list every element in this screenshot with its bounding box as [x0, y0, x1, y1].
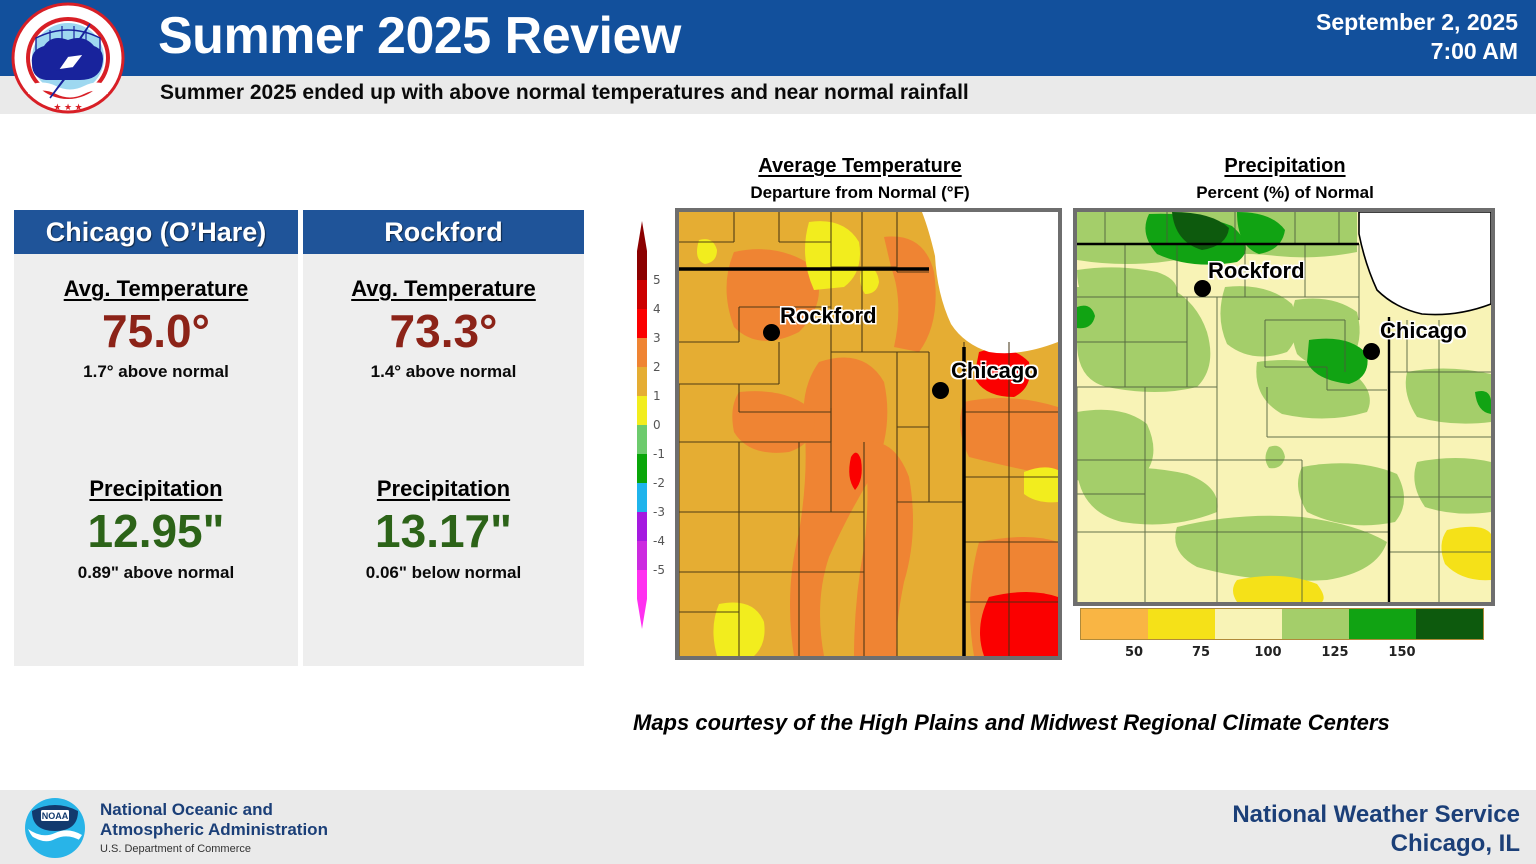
noaa-line-2: Atmospheric Administration: [100, 820, 328, 840]
city-dot-rockford: [763, 324, 780, 341]
pcb-band-1: [1148, 609, 1215, 639]
pcb-band-0: [1081, 609, 1148, 639]
stat-card-chicago: Chicago (O’Hare) Avg. Temperature 75.0° …: [14, 210, 298, 666]
cb-tick-n1: -1: [653, 447, 665, 461]
noaa-name: National Oceanic and Atmospheric Adminis…: [100, 800, 328, 840]
noaa-seal-icon: NOAA: [24, 797, 86, 859]
precip-map-subtitle: Percent (%) of Normal: [1130, 183, 1440, 203]
precip-note: 0.06" below normal: [303, 563, 584, 583]
nws-office-line-1: National Weather Service: [1232, 800, 1520, 829]
city-label-rockford: Rockford: [1208, 258, 1305, 284]
precip-map-title: Precipitation: [1130, 155, 1440, 178]
city-label-rockford: Rockford: [780, 303, 877, 329]
city-dot-chicago: [932, 382, 949, 399]
header-datetime: September 2, 2025 7:00 AM: [1316, 8, 1518, 66]
noaa-line-1: National Oceanic and: [100, 800, 328, 820]
pcb-tick-75: 75: [1181, 645, 1221, 660]
temp-note: 1.7° above normal: [14, 362, 298, 382]
pcb-band-3: [1282, 609, 1349, 639]
temp-map-title: Average Temperature: [700, 155, 1020, 178]
card-header-chicago: Chicago (O’Hare): [14, 210, 298, 254]
city-label-chicago: Chicago: [951, 358, 1038, 384]
precip-label: Precipitation: [303, 476, 584, 502]
stat-card-rockford: Rockford Avg. Temperature 73.3° 1.4° abo…: [303, 210, 584, 666]
noaa-department: U.S. Department of Commerce: [100, 843, 251, 855]
cb-tick-5: 5: [653, 273, 661, 287]
header-date: September 2, 2025: [1316, 8, 1518, 37]
temp-value: 73.3°: [303, 306, 584, 356]
cb-tick-n5: -5: [653, 563, 665, 577]
precip-value: 13.17": [303, 506, 584, 556]
pcb-band-5: [1416, 609, 1483, 639]
temp-map-subtitle: Departure from Normal (°F): [700, 183, 1020, 203]
precipitation-map[interactable]: Rockford Chicago: [1073, 208, 1495, 606]
precip-note: 0.89" above normal: [14, 563, 298, 583]
maps-credit: Maps courtesy of the High Plains and Mid…: [633, 710, 1390, 736]
card-header-rockford: Rockford: [303, 210, 584, 254]
pcb-tick-100: 100: [1248, 645, 1288, 660]
svg-text:NOAA: NOAA: [42, 811, 69, 821]
cb-tick-1: 1: [653, 389, 661, 403]
temp-label: Avg. Temperature: [303, 276, 584, 302]
cb-tick-n2: -2: [653, 476, 665, 490]
cb-tick-0: 0: [653, 418, 661, 432]
page-title: Summer 2025 Review: [158, 6, 681, 66]
card-title: Chicago (O’Hare): [46, 217, 267, 248]
pcb-tick-150: 150: [1382, 645, 1422, 660]
temperature-map[interactable]: Rockford Chicago: [675, 208, 1062, 660]
cb-tick-4: 4: [653, 302, 661, 316]
cb-tick-2: 2: [653, 360, 661, 374]
svg-text:★ ★ ★: ★ ★ ★: [53, 102, 82, 112]
city-label-chicago: Chicago: [1380, 318, 1467, 344]
temp-note: 1.4° above normal: [303, 362, 584, 382]
precip-label: Precipitation: [14, 476, 298, 502]
temp-label: Avg. Temperature: [14, 276, 298, 302]
precipitation-colorbar: [1080, 608, 1484, 640]
city-dot-chicago: [1363, 343, 1380, 360]
pcb-band-2: [1215, 609, 1282, 639]
cb-tick-n4: -4: [653, 534, 665, 548]
subtitle-text: Summer 2025 ended up with above normal t…: [160, 81, 969, 105]
card-title: Rockford: [384, 217, 503, 248]
header-time: 7:00 AM: [1316, 37, 1518, 66]
pcb-band-4: [1349, 609, 1416, 639]
nws-office-line-2: Chicago, IL: [1232, 829, 1520, 858]
nws-seal-icon: ★ ★ ★: [6, 2, 130, 114]
pcb-tick-125: 125: [1315, 645, 1355, 660]
cb-tick-n3: -3: [653, 505, 665, 519]
precip-value: 12.95": [14, 506, 298, 556]
temp-value: 75.0°: [14, 306, 298, 356]
cb-tick-3: 3: [653, 331, 661, 345]
nws-office: National Weather Service Chicago, IL: [1232, 800, 1520, 858]
pcb-tick-50: 50: [1114, 645, 1154, 660]
